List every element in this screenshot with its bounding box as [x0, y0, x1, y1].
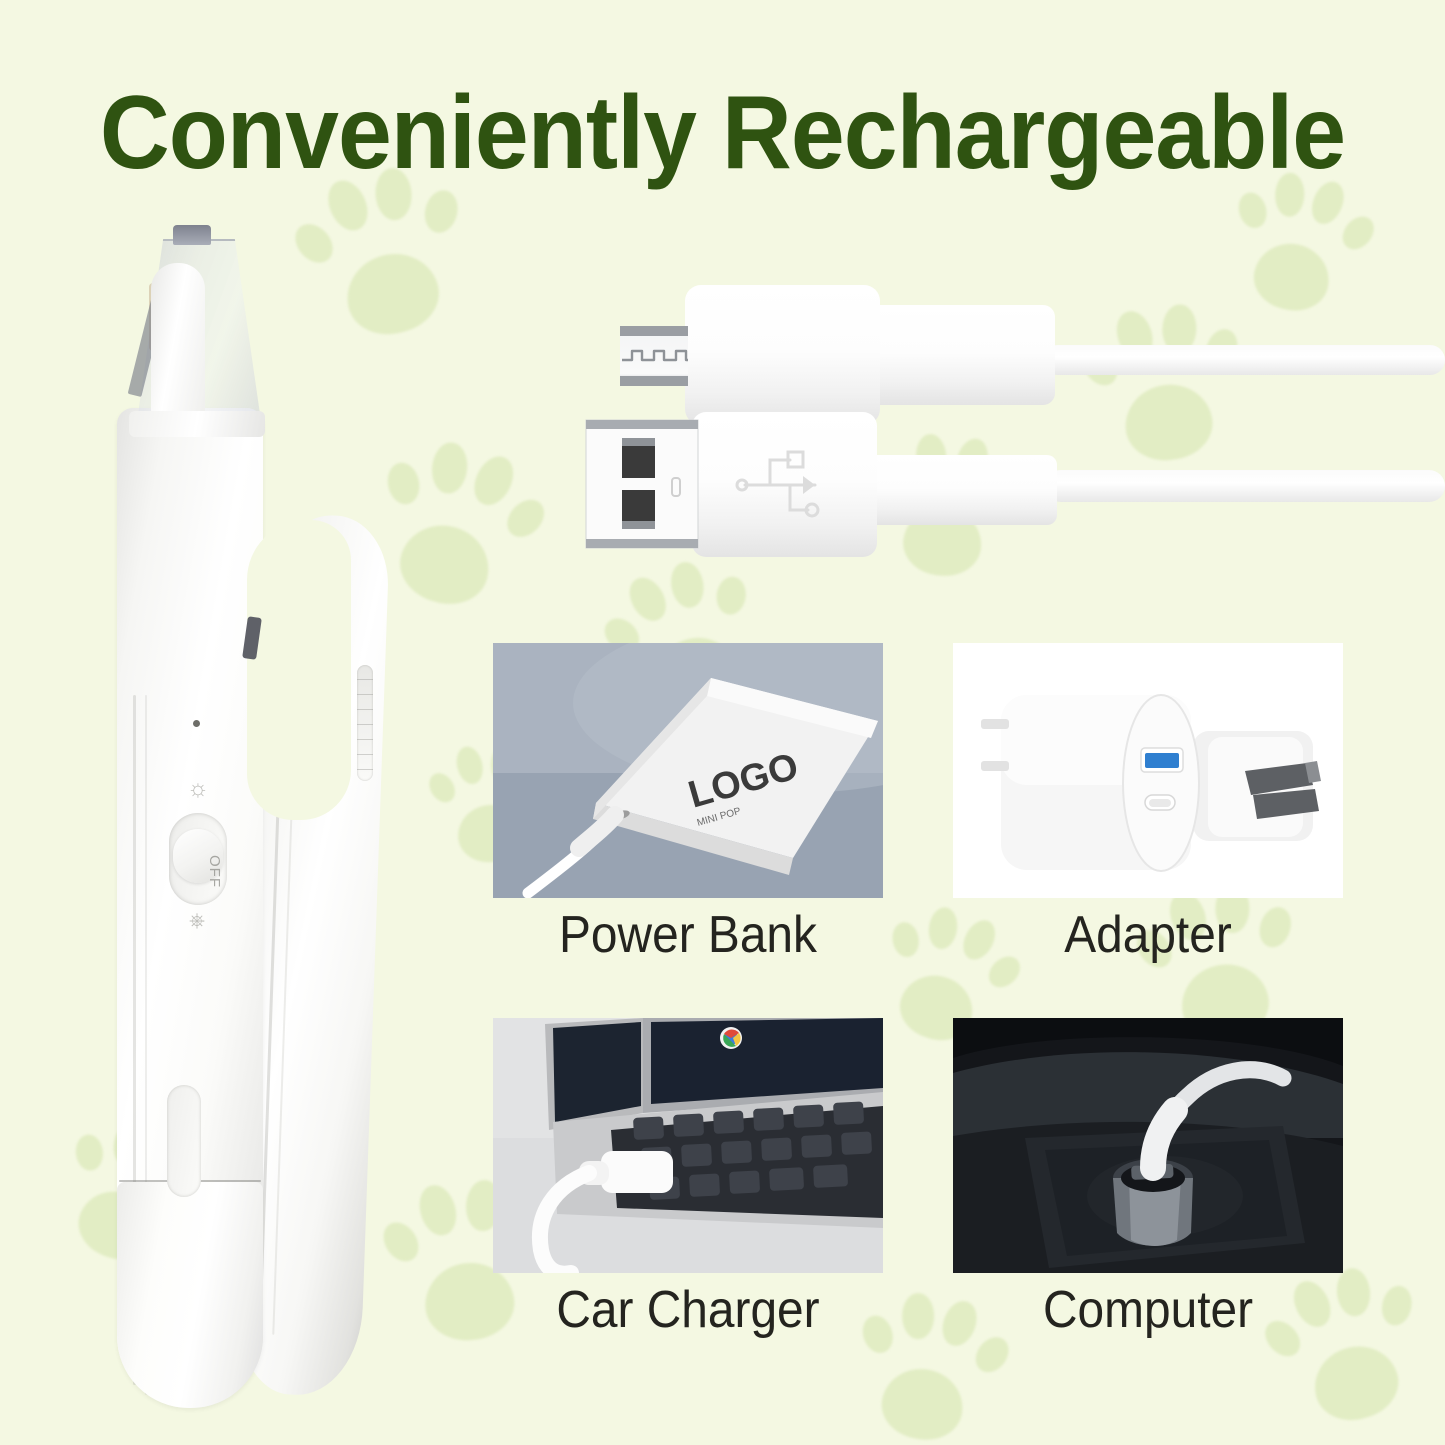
micro-usb-cable: [620, 285, 1445, 425]
adapter-au-plug: [1193, 731, 1321, 841]
power-bank-photo: LOGO MINI POP: [493, 643, 883, 898]
tile-caption-power-bank: Power Bank: [509, 905, 868, 965]
usb-a-cable: [586, 412, 1445, 557]
tile-caption-adapter: Adapter: [969, 905, 1328, 965]
adapter-photo: [953, 643, 1343, 898]
car-charger-socket-photo: [953, 1018, 1343, 1273]
usb-a-port-insert: [1145, 753, 1179, 768]
tile-caption-computer: Computer: [969, 1280, 1328, 1340]
product-infographic: Conveniently Rechargeable ☼ OFF ⎈: [0, 0, 1445, 1445]
tile-caption-car-charger: Car Charger: [509, 1280, 868, 1340]
laptop-usb-photo: [493, 1018, 883, 1273]
adapter-front: [981, 695, 1199, 871]
